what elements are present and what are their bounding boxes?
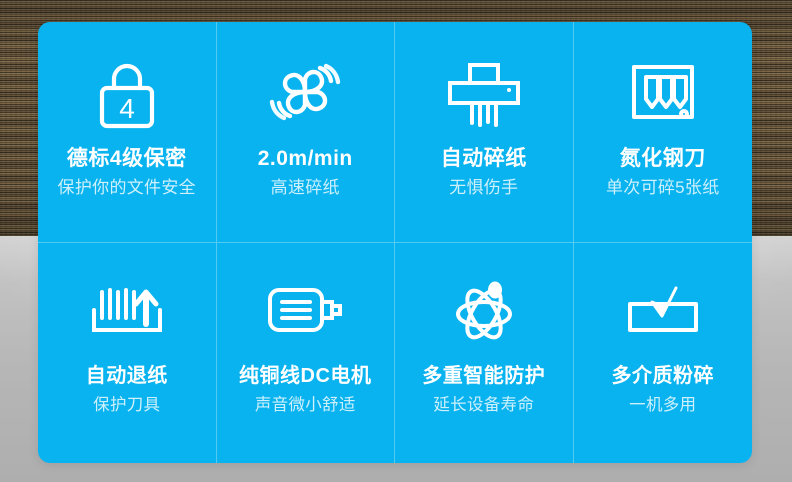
lock-level-4-icon: 4: [62, 48, 192, 140]
feature-subtitle: 无惧伤手: [449, 176, 518, 200]
feature-subtitle: 一机多用: [629, 393, 696, 417]
feature-title: 多介质粉碎: [612, 363, 715, 389]
feature-subtitle: 声音微小舒适: [255, 393, 356, 417]
feature-subtitle: 单次可碎5张纸: [606, 176, 720, 200]
multi-media-check-icon: [598, 265, 728, 357]
feature-title: 纯铜线DC电机: [239, 363, 371, 389]
fan-speed-icon: [240, 48, 370, 140]
feature-cell-1[interactable]: 4 德标4级保密 保护你的文件安全: [38, 22, 217, 243]
paper-eject-arrow-icon: [62, 265, 192, 357]
dc-motor-icon: [240, 265, 370, 357]
feature-cell-7[interactable]: 多重智能防护 延长设备寿命: [395, 243, 574, 464]
feature-panel: 4 德标4级保密 保护你的文件安全: [38, 22, 752, 463]
feature-cell-6[interactable]: 纯铜线DC电机 声音微小舒适: [217, 243, 396, 464]
svg-text:4: 4: [119, 93, 135, 124]
feature-subtitle: 保护刀具: [93, 393, 160, 417]
feature-cell-4[interactable]: 氮化钢刀 单次可碎5张纸: [574, 22, 753, 243]
feature-title: 自动碎纸: [441, 146, 527, 172]
feature-title: 2.0m/min: [258, 146, 353, 172]
feature-title: 多重智能防护: [422, 363, 545, 389]
feature-subtitle: 延长设备寿命: [433, 393, 534, 417]
feature-cell-2[interactable]: 2.0m/min 高速碎纸: [217, 22, 396, 243]
feature-cell-3[interactable]: 自动碎纸 无惧伤手: [395, 22, 574, 243]
feature-subtitle: 高速碎纸: [271, 176, 340, 200]
feature-title: 氮化钢刀: [620, 146, 706, 172]
feature-cell-5[interactable]: 自动退纸 保护刀具: [38, 243, 217, 464]
feature-subtitle: 保护你的文件安全: [58, 176, 196, 200]
scene: 4 德标4级保密 保护你的文件安全: [0, 0, 792, 482]
paper-shredder-icon: [419, 48, 549, 140]
feature-grid: 4 德标4级保密 保护你的文件安全: [38, 22, 752, 463]
atom-protection-icon: [419, 265, 549, 357]
feature-cell-8[interactable]: 多介质粉碎 一机多用: [574, 243, 753, 464]
steel-blade-icon: [598, 48, 728, 140]
feature-title: 德标4级保密: [67, 146, 187, 172]
feature-title: 自动退纸: [86, 363, 168, 389]
